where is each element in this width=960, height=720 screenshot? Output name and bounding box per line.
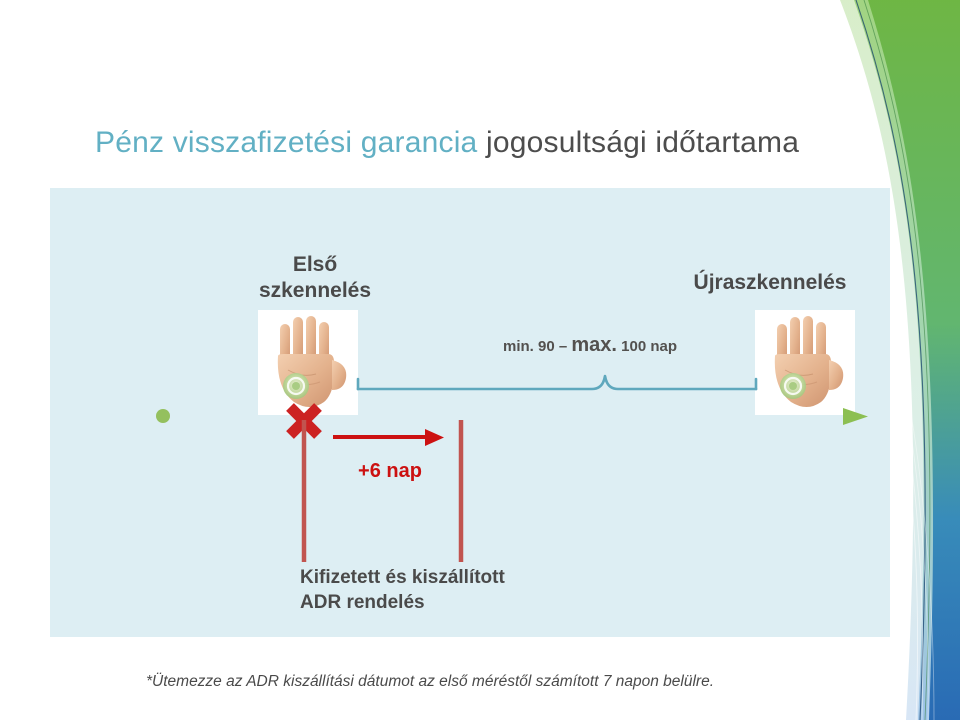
palm-scan-icon — [258, 310, 358, 415]
label-first-scan: Első szkennelés — [215, 252, 415, 303]
footnote-text: *Ütemezze az ADR kiszállítási dátumot az… — [146, 673, 846, 691]
page-title-accent: Pénz visszafizetési garancia — [95, 126, 477, 159]
rescan-hand-image — [755, 310, 855, 415]
palm-rescan-icon — [755, 310, 855, 415]
label-plus-six-days: +6 nap — [330, 460, 450, 483]
slide-canvas: Pénz visszafizetési garancia jogosultság… — [0, 0, 960, 720]
duration-suffix: 100 nap — [617, 338, 677, 355]
duration-prefix: min. 90 – — [503, 338, 571, 355]
first-scan-hand-image — [258, 310, 358, 415]
label-paid-shipped-order: Kifizetett és kiszállított ADR rendelés — [300, 566, 630, 615]
duration-emphasis: max. — [571, 334, 617, 356]
duration-range-label: min. 90 – max. 100 nap — [440, 334, 740, 357]
page-title-plain: jogosultsági időtartama — [477, 126, 799, 159]
label-rescan: Újraszkennelés — [655, 270, 885, 296]
page-title: Pénz visszafizetési garancia jogosultság… — [95, 126, 799, 160]
